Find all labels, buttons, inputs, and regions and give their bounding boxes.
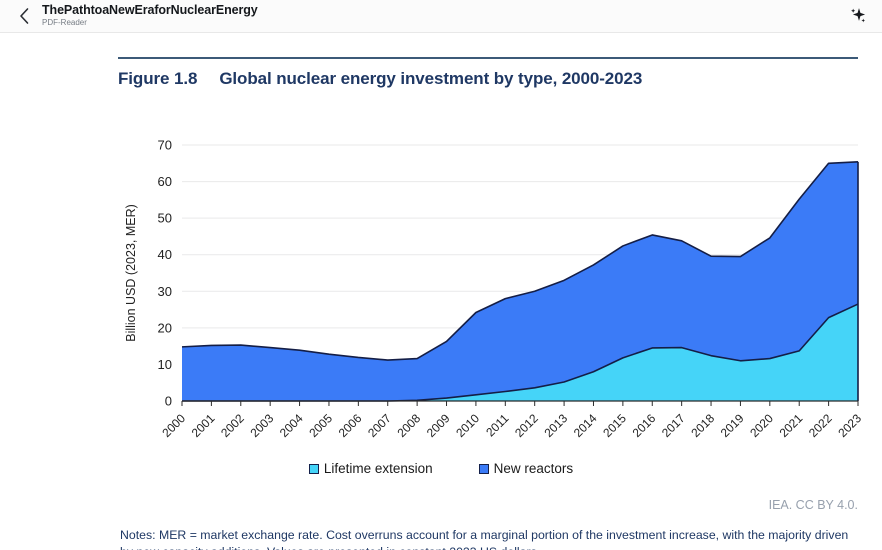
svg-text:40: 40 xyxy=(158,247,172,262)
header-actions xyxy=(848,0,868,32)
figure-heading-block: Figure 1.8Global nuclear energy investme… xyxy=(118,57,858,89)
svg-text:30: 30 xyxy=(158,284,172,299)
svg-text:2000: 2000 xyxy=(159,411,188,440)
svg-text:2010: 2010 xyxy=(453,411,482,440)
legend-item-lifetime-extension[interactable]: Lifetime extension xyxy=(309,461,433,476)
svg-text:50: 50 xyxy=(158,211,172,226)
svg-text:2020: 2020 xyxy=(747,411,776,440)
svg-text:2022: 2022 xyxy=(806,411,835,440)
figure-credit: IEA. CC BY 4.0. xyxy=(769,498,858,512)
svg-text:60: 60 xyxy=(158,174,172,189)
sparkle-icon[interactable] xyxy=(848,6,868,26)
svg-text:2012: 2012 xyxy=(512,411,541,440)
chevron-left-icon xyxy=(19,7,30,25)
app-header: ThePathtoaNewEraforNuclearEnergy PDF-Rea… xyxy=(0,0,882,33)
svg-text:2001: 2001 xyxy=(189,411,218,440)
chart-container: 010203040506070 200020012002200320042005… xyxy=(118,129,866,499)
svg-text:2018: 2018 xyxy=(688,411,717,440)
svg-text:2014: 2014 xyxy=(571,411,600,440)
legend-swatch-new-reactors xyxy=(479,464,489,474)
svg-text:2019: 2019 xyxy=(718,411,747,440)
header-title-group: ThePathtoaNewEraforNuclearEnergy PDF-Rea… xyxy=(42,4,258,29)
svg-text:2003: 2003 xyxy=(248,411,277,440)
svg-text:2004: 2004 xyxy=(277,411,306,440)
figure-title: Figure 1.8Global nuclear energy investme… xyxy=(118,69,858,89)
chart-y-ticks: 010203040506070 xyxy=(158,138,172,409)
svg-text:2011: 2011 xyxy=(483,411,511,439)
legend-label-lifetime-extension: Lifetime extension xyxy=(324,461,433,476)
svg-text:2015: 2015 xyxy=(600,411,629,440)
svg-text:2023: 2023 xyxy=(835,411,864,440)
svg-text:2016: 2016 xyxy=(630,411,659,440)
svg-text:0: 0 xyxy=(165,394,172,409)
svg-text:2008: 2008 xyxy=(394,411,423,440)
svg-text:2005: 2005 xyxy=(306,411,335,440)
svg-text:2013: 2013 xyxy=(541,411,570,440)
svg-text:2007: 2007 xyxy=(365,411,394,440)
svg-text:2017: 2017 xyxy=(659,411,688,440)
svg-text:2021: 2021 xyxy=(777,411,806,440)
svg-text:2002: 2002 xyxy=(218,411,247,440)
chart-legend: Lifetime extension New reactors xyxy=(0,461,882,476)
document-subtitle: PDF-Reader xyxy=(42,19,258,28)
back-button[interactable] xyxy=(14,3,34,29)
chart-y-axis-label: Billion USD (2023, MER) xyxy=(124,204,138,342)
document-title: ThePathtoaNewEraforNuclearEnergy xyxy=(42,4,258,18)
figure-title-text: Global nuclear energy investment by type… xyxy=(219,69,642,88)
chart-areas xyxy=(182,162,858,401)
figure-number: Figure 1.8 xyxy=(118,69,197,88)
svg-text:10: 10 xyxy=(158,357,172,372)
chart-x-ticks: 2000200120022003200420052006200720082009… xyxy=(159,401,864,440)
legend-label-new-reactors: New reactors xyxy=(494,461,574,476)
svg-text:Billion USD (2023, MER): Billion USD (2023, MER) xyxy=(124,204,138,342)
legend-swatch-lifetime-extension xyxy=(309,464,319,474)
stacked-area-chart: 010203040506070 200020012002200320042005… xyxy=(118,129,866,499)
pdf-page: Figure 1.8Global nuclear energy investme… xyxy=(0,33,882,550)
svg-text:70: 70 xyxy=(158,138,172,153)
svg-text:2009: 2009 xyxy=(424,411,453,440)
legend-item-new-reactors[interactable]: New reactors xyxy=(479,461,574,476)
svg-text:20: 20 xyxy=(158,320,172,335)
figure-notes: Notes: MER = market exchange rate. Cost … xyxy=(120,527,858,550)
figure-top-rule xyxy=(118,57,858,59)
svg-text:2006: 2006 xyxy=(336,411,365,440)
